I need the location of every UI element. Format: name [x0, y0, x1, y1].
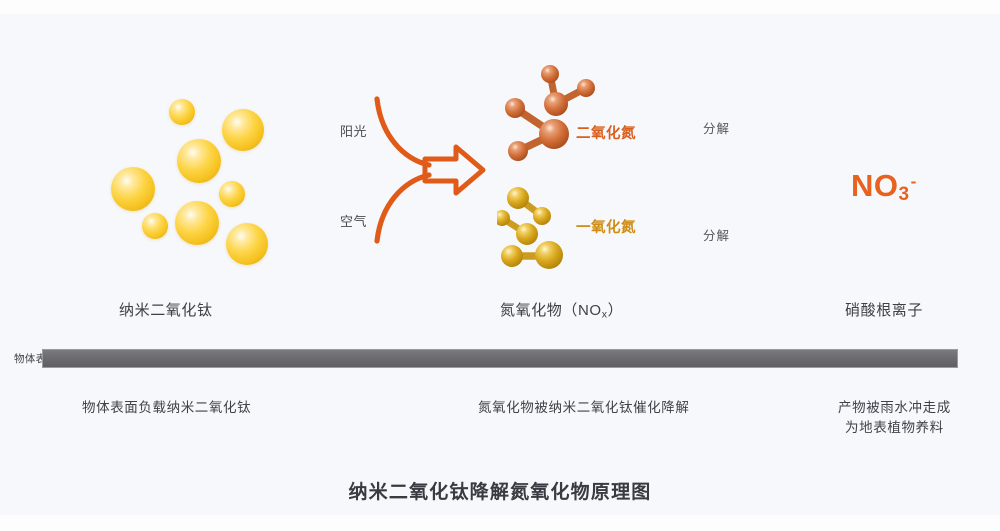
- decomposition-label-bottom: 分解: [703, 225, 730, 244]
- object-surface-bar: [42, 349, 958, 368]
- caption-right: 产物被雨水冲走成 为地表植物养料: [838, 398, 951, 437]
- bottom-margin-band: [0, 515, 1000, 531]
- stage-label-nano-titania: 纳米二氧化钛: [119, 299, 213, 320]
- diagram-canvas: 阳光 空气 二氧化氮: [0, 0, 1000, 531]
- nitrate-formula-subscript: 3: [899, 184, 910, 205]
- diagram-title: 纳米二氧化钛降解氮氧化物原理图: [0, 477, 1000, 504]
- nox-label-suffix: ）: [608, 302, 624, 319]
- decomposition-label-top: 分解: [703, 118, 730, 137]
- input-label-air: 空气: [340, 211, 367, 230]
- molecule-label-nitrogen-dioxide: 二氧化氮: [576, 122, 636, 143]
- top-margin-band: [0, 0, 1000, 14]
- nano-titania-particle: [169, 99, 195, 125]
- molecule-label-nitric-oxide: 一氧化氮: [576, 216, 636, 237]
- nano-titania-particle: [111, 167, 155, 211]
- nox-label-prefix: 氮氧化物（NO: [500, 302, 602, 319]
- nano-titania-particle: [226, 223, 268, 265]
- nano-titania-particle: [219, 181, 245, 207]
- caption-center: 氮氧化物被纳米二氧化钛催化降解: [478, 398, 690, 418]
- nitrogen-dioxide-molecule-group: [498, 62, 610, 170]
- nitrate-formula-superscript: -: [911, 172, 917, 191]
- nano-titania-particle: [177, 139, 221, 183]
- nitrate-ion-formula: NO3-: [851, 168, 917, 206]
- stage-label-nitrogen-oxides: 氮氧化物（NOx）: [500, 299, 623, 321]
- input-label-sunlight: 阳光: [340, 121, 367, 140]
- stage-label-nitrate-ion: 硝酸根离子: [845, 299, 923, 320]
- nano-titania-particle: [142, 213, 168, 239]
- caption-left: 物体表面负载纳米二氧化钛: [82, 398, 251, 418]
- reaction-arrow-icon: [355, 95, 495, 245]
- nano-titania-particle: [175, 201, 219, 245]
- nano-titania-particle: [222, 109, 264, 151]
- nitrate-formula-base: NO: [851, 168, 899, 203]
